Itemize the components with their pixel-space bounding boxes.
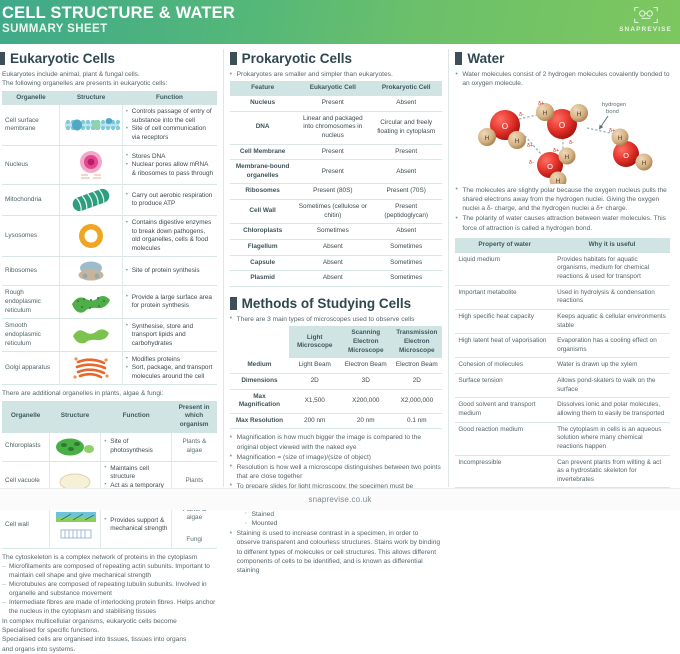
prokaryotic-value: Absent bbox=[370, 96, 442, 111]
svg-text:O: O bbox=[559, 121, 565, 130]
section-bar-icon bbox=[455, 52, 462, 65]
feature-name: Chloroplasts bbox=[230, 224, 296, 240]
table-row: Golgi apparatus bbox=[2, 352, 217, 385]
table-row: Lysosomes Contains digestive enzymes to … bbox=[2, 216, 217, 257]
property-use: Keeps aquatic & cellular environments st… bbox=[554, 309, 670, 333]
svg-text:H: H bbox=[576, 111, 581, 118]
brand-name: SNAPREVISE bbox=[619, 26, 672, 33]
staining-point: Staining is used to increase contrast in… bbox=[230, 529, 443, 576]
table-row: Good solvent and transport mediumDissolv… bbox=[455, 398, 670, 422]
hydrogen-bond-label-line2: bond bbox=[606, 109, 619, 115]
eukaryotic-intro-2: The following organelles are presents in… bbox=[2, 79, 217, 88]
microscope-table: Light Microscope Scanning Electron Micro… bbox=[230, 326, 443, 429]
feature-name: Flagellum bbox=[230, 240, 296, 256]
golgi-icon bbox=[70, 355, 112, 381]
property-use: Evaporation has a cooling effect on orga… bbox=[554, 334, 670, 358]
structure-cell bbox=[60, 216, 122, 257]
table-row: ChloroplastsSometimesAbsent bbox=[230, 224, 443, 240]
charge-label: δ- bbox=[529, 160, 534, 166]
function-item: Nuclear pores allow mRNA & ribosomes to … bbox=[126, 161, 214, 178]
function-cell: Carry out aerobic respiration to produce… bbox=[122, 185, 216, 216]
table-header-row: Property of water Why it is useful bbox=[455, 238, 670, 253]
eukaryotic-value: Linear and packaged into chromosomes in … bbox=[296, 111, 370, 144]
eukaryotic-value: Sometimes (cellulose or chitin) bbox=[296, 200, 370, 224]
svg-text:O: O bbox=[547, 162, 553, 171]
function-cell: Synthesise, store and transport lipids a… bbox=[122, 319, 216, 352]
eukaryotic-value: Absent bbox=[296, 271, 370, 287]
table-row: High latent heat of vaporisationEvaporat… bbox=[455, 334, 670, 358]
table-row: CapsuleAbsentSometimes bbox=[230, 255, 443, 271]
sem-value: 20 nm bbox=[340, 413, 391, 429]
property-name: Cohesion of molecules bbox=[455, 358, 554, 374]
brand-logo: SNAPREVISE bbox=[619, 6, 672, 33]
ribosome-icon bbox=[74, 260, 108, 282]
cytoskeleton-item: Microtubules are composed of repeating t… bbox=[2, 580, 217, 598]
slide-prep-step: Mounted bbox=[245, 519, 443, 528]
prokaryotic-intro: Prokaryotes are smaller and simpler than… bbox=[230, 70, 443, 79]
light-value: 200 nm bbox=[289, 413, 340, 429]
function-item: Site of photosynthesis bbox=[104, 438, 168, 455]
feature-name: Capsule bbox=[230, 255, 296, 271]
slide-prep-step: Stained bbox=[245, 510, 443, 519]
hydrogen-bond-label-line1: hydrogen bbox=[602, 102, 626, 108]
table-row: Cell WallSometimes (cellulose or chitin)… bbox=[230, 200, 443, 224]
function-cell: Site of protein synthesis bbox=[122, 257, 216, 286]
structure-cell bbox=[60, 286, 122, 319]
function-item: Sort, package, and transport molecules a… bbox=[126, 364, 214, 381]
tem-value: X2,000,000 bbox=[391, 389, 442, 413]
smooth-er-icon bbox=[69, 324, 113, 346]
property-name: High latent heat of vaporisation bbox=[455, 334, 554, 358]
property-name: Liquid medium bbox=[455, 253, 554, 285]
col-structure: Structure bbox=[49, 401, 101, 433]
sem-value: 3D bbox=[340, 373, 391, 389]
organelle-name: Chloroplasts bbox=[2, 433, 49, 462]
content-columns: Eukaryotic Cells Eukaryotes include anim… bbox=[0, 44, 680, 487]
cytoskeleton-item: Microfilaments are composed of repeating… bbox=[2, 562, 217, 580]
eukaryotic-value: Absent bbox=[296, 240, 370, 256]
svg-text:H: H bbox=[617, 135, 622, 142]
col-eukaryotic: Eukaryotic Cell bbox=[296, 81, 370, 96]
col-function: Function bbox=[122, 91, 216, 106]
col-transmission-electron-microscope: Transmission Electron Microscope bbox=[391, 326, 442, 358]
eukaryotic-value: Present (80S) bbox=[296, 184, 370, 200]
organelle-name: Ribosomes bbox=[2, 257, 60, 286]
table-row: MediumLight BeamElectron BeamElectron Be… bbox=[230, 358, 443, 373]
table-header-row: Organelle Structure Function Present in … bbox=[2, 401, 217, 433]
property-use: Dissolves ionic and polar molecules, all… bbox=[554, 398, 670, 422]
property-use: Provides habitats for aquatic organisms,… bbox=[554, 253, 670, 285]
organelle-name: Rough endoplasmic reticulum bbox=[2, 286, 60, 319]
table-row: IncompressibleCan prevent plants from wi… bbox=[455, 455, 670, 488]
property-name: Good reaction medium bbox=[455, 422, 554, 455]
chloroplast-icon bbox=[54, 436, 96, 458]
function-cell: Provide a large surface area for protein… bbox=[122, 286, 216, 319]
page-subtitle: SUMMARY SHEET bbox=[2, 23, 680, 35]
charge-label: δ+ bbox=[527, 143, 533, 149]
col-feature: Feature bbox=[230, 81, 296, 96]
table-row: Mitochondria bbox=[2, 185, 217, 216]
charge-label: δ- bbox=[519, 112, 524, 118]
sem-value: X200,000 bbox=[340, 389, 391, 413]
methods-point: Magnification is how much bigger the ima… bbox=[230, 433, 443, 452]
light-value: 2D bbox=[289, 373, 340, 389]
column-prokaryotic: Prokaryotic Cells Prokaryotes are smalle… bbox=[223, 49, 449, 487]
function-item: Provides support & mechanical strength bbox=[104, 517, 168, 534]
charge-label: δ+ bbox=[609, 128, 615, 134]
table-row: Nucleus Stores DNA bbox=[2, 146, 217, 185]
function-cell: Modifies proteins Sort, package, and tra… bbox=[122, 352, 216, 385]
eukaryotic-intro-1: Eukaryotes include animal, plant & funga… bbox=[2, 70, 217, 79]
property-use: Used in hydrolysis & condensation reacti… bbox=[554, 285, 670, 309]
section-title: Prokaryotic Cells bbox=[242, 51, 352, 66]
organelle-table: Organelle Structure Function Cell surfac… bbox=[2, 91, 217, 386]
section-header-methods: Methods of Studying Cells bbox=[230, 296, 443, 311]
feature-name: Dimensions bbox=[230, 373, 290, 389]
prokaryotic-value: Present (peptidoglycan) bbox=[370, 200, 442, 224]
methods-intro-list: There are 3 main types of microscopes us… bbox=[230, 315, 443, 324]
structure-cell bbox=[60, 352, 122, 385]
structure-cell bbox=[60, 319, 122, 352]
section-header-prokaryotic: Prokaryotic Cells bbox=[230, 51, 443, 66]
table-row: Membrane-bound organellesPresentAbsent bbox=[230, 160, 443, 184]
section-header-water: Water bbox=[455, 51, 670, 66]
structure-cell bbox=[60, 185, 122, 216]
table-row: Liquid mediumProvides habitats for aquat… bbox=[455, 253, 670, 285]
table-row: NucleusPresentAbsent bbox=[230, 96, 443, 111]
table-row: Dimensions2D3D2D bbox=[230, 373, 443, 389]
membrane-bilayer-icon bbox=[63, 115, 121, 135]
function-item: Synthesise, store and transport lipids a… bbox=[126, 323, 214, 349]
organelle-name: Smooth endoplasmic reticulum bbox=[2, 319, 60, 352]
function-cell: Site of photosynthesis bbox=[101, 433, 172, 462]
page-header: CELL STRUCTURE & WATER SUMMARY SHEET SNA… bbox=[0, 0, 680, 44]
table-row: Good reaction mediumThe cytoplasm in cel… bbox=[455, 422, 670, 455]
lysosome-icon bbox=[75, 221, 107, 251]
prokaryotic-table: Feature Eukaryotic Cell Prokaryotic Cell… bbox=[230, 81, 443, 287]
organism-cell: Plants & algae bbox=[172, 433, 217, 462]
property-name: High specific heat capacity bbox=[455, 309, 554, 333]
rough-er-icon bbox=[69, 290, 113, 314]
feature-name: Max Resolution bbox=[230, 413, 290, 429]
organelle-name: Cell surface membrane bbox=[2, 105, 60, 146]
feature-name: Medium bbox=[230, 358, 290, 373]
table-row: Chloroplasts Site of photosynthesis Plan… bbox=[2, 433, 217, 462]
table-row: High specific heat capacityKeeps aquatic… bbox=[455, 309, 670, 333]
property-name: Good solvent and transport medium bbox=[455, 398, 554, 422]
table-row: Rough endoplasmic reticulum Provide a la… bbox=[2, 286, 217, 319]
function-item: Contains digestive enzymes to break down… bbox=[126, 219, 214, 253]
prokaryotic-value: Present bbox=[370, 144, 442, 160]
organelle-name: Mitochondria bbox=[2, 185, 60, 216]
methods-point: Resolution is how well a microscope dist… bbox=[230, 463, 443, 482]
function-cell: Controls passage of entry of substance i… bbox=[122, 105, 216, 146]
col-prokaryotic: Prokaryotic Cell bbox=[370, 81, 442, 96]
feature-name: DNA bbox=[230, 111, 296, 144]
water-molecules-svg: O H H O H H O H bbox=[463, 92, 663, 184]
svg-text:H: H bbox=[542, 110, 547, 117]
water-hydrogen-bond-diagram: O H H O H H O H bbox=[455, 92, 670, 184]
footer-url: snaprevise.co.uk bbox=[308, 495, 371, 504]
page-footer: snaprevise.co.uk bbox=[0, 488, 680, 510]
svg-text:O: O bbox=[623, 151, 629, 160]
organelle-name: Lysosomes bbox=[2, 216, 60, 257]
tem-value: 2D bbox=[391, 373, 442, 389]
prokaryotic-value: Circular and freely floating in cytoplas… bbox=[370, 111, 442, 144]
charge-label: δ- bbox=[569, 140, 574, 146]
organelle-name: Golgi apparatus bbox=[2, 352, 60, 385]
section-header-eukaryotic: Eukaryotic Cells bbox=[0, 51, 217, 66]
col-usefulness: Why it is useful bbox=[554, 238, 670, 253]
sem-value: Electron Beam bbox=[340, 358, 391, 373]
water-points-list: The molecules are slightly polar because… bbox=[455, 186, 670, 233]
nucleus-icon bbox=[71, 149, 111, 181]
table-row: Max Resolution200 nm20 nm0.1 nm bbox=[230, 413, 443, 429]
light-value: Light Beam bbox=[289, 358, 340, 373]
table-row: Surface tensionAllows pond-skaters to wa… bbox=[455, 374, 670, 398]
table-row: Max MagnificationX1,500X200,000X2,000,00… bbox=[230, 389, 443, 413]
cytoskeleton-item: Intermediate fibres are made of interloc… bbox=[2, 598, 217, 616]
prokaryotic-value: Absent bbox=[370, 224, 442, 240]
water-intro: Water molecules consist of 2 hydrogen mo… bbox=[455, 70, 670, 89]
function-cell: Stores DNA Nuclear pores allow mRNA & ri… bbox=[122, 146, 216, 185]
col-blank bbox=[230, 326, 290, 358]
prokaryotic-value: Sometimes bbox=[370, 255, 442, 271]
property-use: Water is drawn up the xylem bbox=[554, 358, 670, 374]
col-structure: Structure bbox=[60, 91, 122, 106]
table-row: PlasmidAbsentSometimes bbox=[230, 271, 443, 287]
charge-label: δ+ bbox=[538, 101, 544, 107]
summary-sheet: CELL STRUCTURE & WATER SUMMARY SHEET SNA… bbox=[0, 0, 680, 510]
col-property: Property of water bbox=[455, 238, 554, 253]
table-row: Cell surface membrane bbox=[2, 105, 217, 146]
eukaryotic-value: Present bbox=[296, 160, 370, 184]
prokaryotic-value: Absent bbox=[370, 160, 442, 184]
property-use: Can prevent plants from wilting & act as… bbox=[554, 455, 670, 488]
svg-text:H: H bbox=[514, 138, 519, 145]
organelle-name: Nucleus bbox=[2, 146, 60, 185]
function-cell: Contains digestive enzymes to break down… bbox=[122, 216, 216, 257]
section-bar-icon bbox=[0, 52, 5, 65]
section-title: Water bbox=[467, 51, 504, 66]
closing-line-2: Specialised for specific functions. bbox=[2, 626, 217, 635]
svg-text:H: H bbox=[641, 160, 646, 167]
closing-line-1: In complex multicellular organisms, euka… bbox=[2, 617, 217, 626]
structure-cell bbox=[49, 433, 101, 462]
property-name: Important metabolite bbox=[455, 285, 554, 309]
feature-name: Ribosomes bbox=[230, 184, 296, 200]
methods-intro: There are 3 main types of microscopes us… bbox=[230, 315, 443, 324]
feature-name: Cell Wall bbox=[230, 200, 296, 224]
function-item: Controls passage of entry of substance i… bbox=[126, 108, 214, 125]
feature-name: Nucleus bbox=[230, 96, 296, 111]
structure-cell bbox=[60, 105, 122, 146]
prokaryotic-value: Sometimes bbox=[370, 271, 442, 287]
eukaryotic-value: Absent bbox=[296, 255, 370, 271]
methods-point: Magnification = (size of image)/(size of… bbox=[230, 453, 443, 462]
property-use: The cytoplasm in cells is an aqueous sol… bbox=[554, 422, 670, 455]
section-title: Methods of Studying Cells bbox=[242, 296, 412, 311]
col-organelle: Organelle bbox=[2, 401, 49, 433]
col-organism: Present in which organism bbox=[172, 401, 217, 433]
table-row: RibosomesPresent (80S)Present (70S) bbox=[230, 184, 443, 200]
feature-name: Max Magnification bbox=[230, 389, 290, 413]
water-point: The polarity of water causes attraction … bbox=[455, 214, 670, 233]
page-title: CELL STRUCTURE & WATER bbox=[2, 5, 680, 22]
svg-text:H: H bbox=[484, 135, 489, 142]
function-item: Site of protein synthesis bbox=[126, 267, 214, 276]
col-function: Function bbox=[101, 401, 172, 433]
table-row: DNALinear and packaged into chromosomes … bbox=[230, 111, 443, 144]
table-row: Cohesion of moleculesWater is drawn up t… bbox=[455, 358, 670, 374]
closing-line-4: and organs into systems. bbox=[2, 645, 217, 654]
water-properties-table: Property of water Why it is useful Liqui… bbox=[455, 238, 670, 488]
svg-text:H: H bbox=[564, 154, 569, 161]
property-name: Surface tension bbox=[455, 374, 554, 398]
feature-name: Membrane-bound organelles bbox=[230, 160, 296, 184]
column-water: Water Water molecules consist of 2 hydro… bbox=[448, 49, 676, 487]
section-title: Eukaryotic Cells bbox=[10, 51, 115, 66]
table-row: Smooth endoplasmic reticulum Synthesise,… bbox=[2, 319, 217, 352]
extra-organelles-intro: There are additional organelles in plant… bbox=[2, 389, 217, 398]
function-item: Carry out aerobic respiration to produce… bbox=[126, 192, 214, 209]
feature-name: Plasmid bbox=[230, 271, 296, 287]
section-bar-icon bbox=[230, 297, 237, 310]
table-row: FlagellumAbsentSometimes bbox=[230, 240, 443, 256]
table-row: Cell MembranePresentPresent bbox=[230, 144, 443, 160]
mitochondria-icon bbox=[66, 188, 116, 212]
table-row: Important metaboliteUsed in hydrolysis &… bbox=[455, 285, 670, 309]
col-light-microscope: Light Microscope bbox=[289, 326, 340, 358]
cell-wall-icon bbox=[53, 508, 99, 542]
cytoskeleton-intro: The cytoskeleton is a complex network of… bbox=[2, 553, 217, 562]
prokaryotic-value: Sometimes bbox=[370, 240, 442, 256]
eukaryotic-value: Present bbox=[296, 144, 370, 160]
table-header-row: Light Microscope Scanning Electron Micro… bbox=[230, 326, 443, 358]
tem-value: 0.1 nm bbox=[391, 413, 442, 429]
structure-cell bbox=[60, 146, 122, 185]
eukaryotic-value: Present bbox=[296, 96, 370, 111]
col-organelle: Organelle bbox=[2, 91, 60, 106]
water-intro-list: Water molecules consist of 2 hydrogen mo… bbox=[455, 70, 670, 89]
feature-name: Cell Membrane bbox=[230, 144, 296, 160]
function-item: Modifies proteins bbox=[126, 356, 214, 365]
section-bar-icon bbox=[230, 52, 237, 65]
eukaryotic-value: Sometimes bbox=[296, 224, 370, 240]
column-eukaryotic: Eukaryotic Cells Eukaryotes include anim… bbox=[0, 49, 223, 487]
svg-text:O: O bbox=[502, 122, 508, 131]
prokaryotic-intro-list: Prokaryotes are smaller and simpler than… bbox=[230, 70, 443, 79]
organism-secondary: Fungi bbox=[175, 536, 214, 545]
col-scanning-electron-microscope: Scanning Electron Microscope bbox=[340, 326, 391, 358]
structure-cell bbox=[60, 257, 122, 286]
function-item: Site of cell communication via receptors bbox=[126, 125, 214, 142]
svg-text:H: H bbox=[555, 178, 560, 184]
cytoskeleton-list: Microfilaments are composed of repeating… bbox=[2, 562, 217, 617]
light-value: X1,500 bbox=[289, 389, 340, 413]
prokaryotic-value: Present (70S) bbox=[370, 184, 442, 200]
property-name: Incompressible bbox=[455, 455, 554, 488]
water-point: The molecules are slightly polar because… bbox=[455, 186, 670, 214]
charge-label: δ+ bbox=[553, 148, 559, 154]
function-item: Stores DNA bbox=[126, 153, 214, 162]
function-item: Provide a large surface area for protein… bbox=[126, 294, 214, 311]
snaprevise-frame-icon bbox=[633, 6, 659, 24]
table-row: Ribosomes Site of protein synthesis bbox=[2, 257, 217, 286]
tem-value: Electron Beam bbox=[391, 358, 442, 373]
table-header-row: Organelle Structure Function bbox=[2, 91, 217, 106]
table-header-row: Feature Eukaryotic Cell Prokaryotic Cell bbox=[230, 81, 443, 96]
closing-line-3: Specialised cells are organised into tis… bbox=[2, 635, 217, 644]
plant-organelle-table: Organelle Structure Function Present in … bbox=[2, 401, 217, 549]
function-item: Maintains cell structure bbox=[104, 465, 168, 482]
property-use: Allows pond-skaters to walk on the surfa… bbox=[554, 374, 670, 398]
